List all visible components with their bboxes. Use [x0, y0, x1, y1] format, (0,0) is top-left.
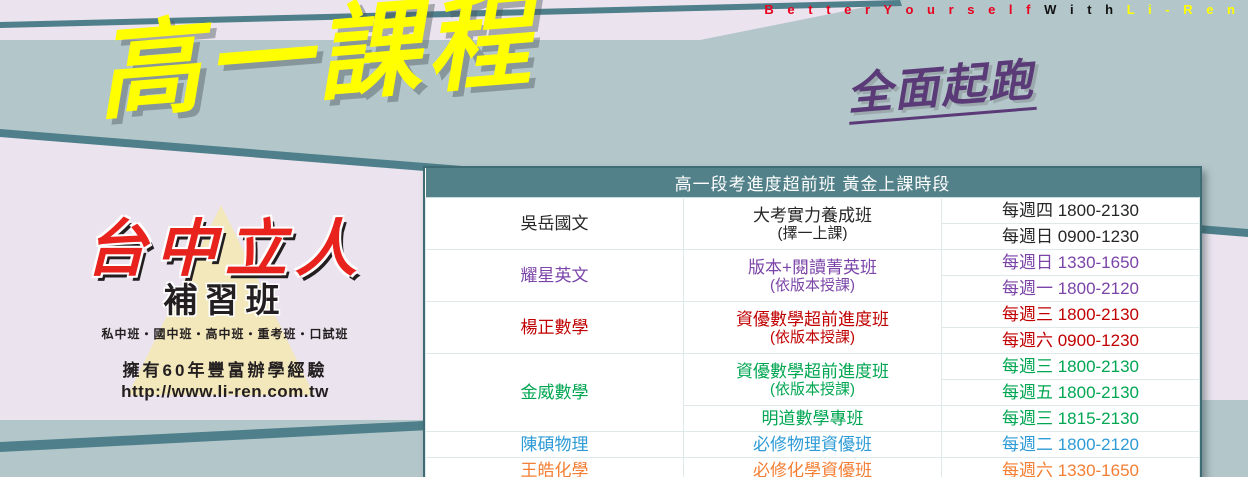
schedule-table: 高一段考進度超前班 黃金上課時段 吳岳國文大考實力養成班(擇一上課)每週四 18… [425, 168, 1200, 477]
teacher-cell: 耀星英文 [426, 250, 684, 302]
course-name: 明道數學專班 [762, 409, 864, 428]
course-cell: 資優數學超前進度班(依版本授課) [684, 354, 942, 406]
time-slot-cell: 每週二 1800-2120 [942, 432, 1200, 458]
teacher-cell: 陳碩物理 [426, 432, 684, 458]
course-note: (擇一上課) [688, 225, 937, 242]
course-cell: 資優數學超前進度班(依版本授課) [684, 302, 942, 354]
brand-experience: 擁有60年豐富辦學經驗 [30, 356, 420, 381]
course-name: 資優數學超前進度班 [736, 310, 889, 329]
time-slot-cell: 每週三 1815-2130 [942, 406, 1200, 432]
time-slot-cell: 每週一 1800-2120 [942, 276, 1200, 302]
course-note: (依版本授課) [688, 381, 937, 398]
course-cell: 明道數學專班 [684, 406, 942, 432]
course-name: 大考實力養成班 [753, 206, 872, 225]
time-slot-cell: 每週四 1800-2130 [942, 198, 1200, 224]
time-slot-cell: 每週日 0900-1230 [942, 224, 1200, 250]
brand-logo: 台中立人 補習班 私中班・國中班・高中班・重考班・口試班 擁有60年豐富辦學經驗… [30, 212, 420, 402]
tagline-part-1: B e t t e r Y o u r s e l f [764, 2, 1035, 17]
schedule-table-head: 高一段考進度超前班 黃金上課時段 [426, 168, 1200, 198]
poster-canvas: B e t t e r Y o u r s e l f W i t h L i … [0, 0, 1248, 477]
course-cell: 必修化學資優班 [684, 458, 942, 477]
schedule-title: 高一段考進度超前班 黃金上課時段 [426, 168, 1200, 198]
time-slot-cell: 每週六 1330-1650 [942, 458, 1200, 477]
table-row: 楊正數學資優數學超前進度班(依版本授課)每週三 1800-2130 [426, 302, 1200, 328]
schedule-table-body: 吳岳國文大考實力養成班(擇一上課)每週四 1800-2130每週日 0900-1… [426, 198, 1200, 477]
schedule-panel: 高一段考進度超前班 黃金上課時段 吳岳國文大考實力養成班(擇一上課)每週四 18… [423, 166, 1202, 477]
course-name: 資優數學超前進度班 [736, 362, 889, 381]
teacher-cell: 王皓化學 [426, 458, 684, 477]
course-cell: 版本+閱讀菁英班(依版本授課) [684, 250, 942, 302]
table-row: 王皓化學必修化學資優班每週六 1330-1650 [426, 458, 1200, 477]
course-note: (依版本授課) [688, 277, 937, 294]
course-name: 必修物理資優班 [753, 435, 872, 454]
tagline-part-3: L i - R e n [1127, 2, 1240, 17]
table-row: 金威數學資優數學超前進度班(依版本授課)每週三 1800-2130 [426, 354, 1200, 380]
time-slot-cell: 每週日 1330-1650 [942, 250, 1200, 276]
schedule-title-row: 高一段考進度超前班 黃金上課時段 [426, 168, 1200, 198]
table-row: 耀星英文版本+閱讀菁英班(依版本授課)每週日 1330-1650 [426, 250, 1200, 276]
time-slot-cell: 每週五 1800-2130 [942, 380, 1200, 406]
teacher-cell: 楊正數學 [426, 302, 684, 354]
course-name: 版本+閱讀菁英班 [748, 258, 877, 277]
time-slot-cell: 每週三 1800-2130 [942, 302, 1200, 328]
brand-type: 補習班 [30, 282, 420, 320]
tagline: B e t t e r Y o u r s e l f W i t h L i … [640, 1, 1240, 19]
table-row: 陳碩物理必修物理資優班每週二 1800-2120 [426, 432, 1200, 458]
time-slot-cell: 每週三 1800-2130 [942, 354, 1200, 380]
brand-website-url[interactable]: http://www.li-ren.com.tw [30, 382, 420, 402]
time-slot-cell: 每週六 0900-1230 [942, 328, 1200, 354]
tagline-part-2: W i t h [1044, 2, 1118, 17]
table-row: 吳岳國文大考實力養成班(擇一上課)每週四 1800-2130 [426, 198, 1200, 224]
brand-name: 台中立人 [30, 212, 420, 286]
course-note: (依版本授課) [688, 329, 937, 346]
course-cell: 大考實力養成班(擇一上課) [684, 198, 942, 250]
teacher-cell: 吳岳國文 [426, 198, 684, 250]
course-name: 必修化學資優班 [753, 461, 872, 477]
brand-class-list: 私中班・國中班・高中班・重考班・口試班 [30, 325, 420, 342]
teacher-cell: 金威數學 [426, 354, 684, 432]
course-cell: 必修物理資優班 [684, 432, 942, 458]
